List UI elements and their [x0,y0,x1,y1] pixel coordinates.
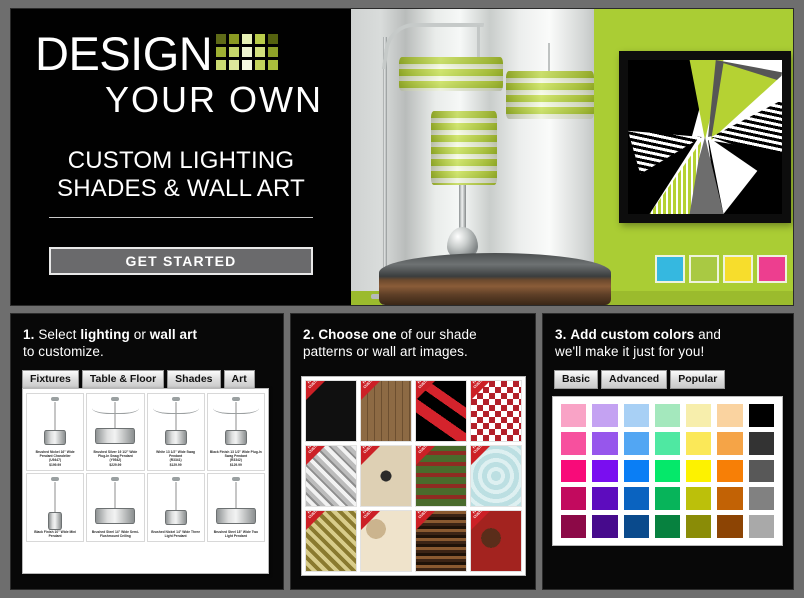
tab-fixtures[interactable]: Fixtures [22,370,79,389]
color-swatch-1-0[interactable] [561,432,586,455]
pattern-item-brown-grid-weave[interactable]: FREE CUSTOM [360,380,412,442]
hero-swatch-3[interactable] [757,255,787,283]
logo-swatch-2 [242,34,252,44]
patterns-panel: FREE CUSTOMFREE CUSTOMFREE CUSTOMFREE CU… [301,376,526,576]
color-swatch-0-3[interactable] [655,404,680,427]
fixture-caption: Black Finish 13 1/2" Wide Plug-In Swag P… [209,448,263,470]
fixture-thumbnail [88,396,142,448]
step-2-number: 2. [303,327,314,342]
fixture-thumbnail [28,396,82,448]
tab-table-floor[interactable]: Table & Floor [82,370,164,389]
fixture-name: Brushed Steel 18" Wide Two Light Pendant [214,530,258,538]
color-swatch-4-0[interactable] [561,515,586,538]
step-1-strong-lighting: lighting [80,327,130,342]
fixtures-grid[interactable]: Brushed Nickel 16" Wide Pendant Chandeli… [26,393,265,542]
fixtures-panel: Brushed Nickel 16" Wide Pendant Chandeli… [22,388,269,574]
color-swatch-1-5[interactable] [717,432,742,455]
logo-swatch-3 [255,34,265,44]
color-swatch-1-6[interactable] [749,432,774,455]
striped-shade-table [431,111,497,185]
step-1-number: 1. [23,327,34,342]
fixture-caption: White 13 1/2" Wide Swag Pendant(R3341)$1… [149,448,203,470]
fixture-item[interactable]: Brushed Steel 14" Wide Semi-Flushmount C… [86,473,144,542]
color-swatch-0-5[interactable] [717,404,742,427]
step-1-heading: 1. Select lighting or wall art to custom… [11,314,283,360]
fixture-item[interactable]: White 13 1/2" Wide Swag Pendant(R3341)$1… [147,393,205,471]
hero-swatch-0[interactable] [655,255,685,283]
logo-swatch-7 [242,47,252,57]
pattern-item-brown-horizontal-stripes[interactable]: FREE CUSTOM [415,510,467,572]
logo-swatch-11 [229,60,239,70]
pattern-item-retro-abstract-shapes[interactable]: FREE CUSTOM [305,380,357,442]
color-swatch-4-4[interactable] [686,515,711,538]
step-1-panel: 1. Select lighting or wall art to custom… [10,313,284,590]
color-swatch-2-5[interactable] [717,460,742,483]
fixture-caption: Black Finish 10" Wide Mini Pendant [28,528,82,541]
step-3-panel: 3. Add custom colors and we'll make it j… [542,313,794,590]
fixture-thumbnail [28,476,82,528]
brand-logo: DESIGN [35,31,278,77]
fixture-price: $199.99 [29,463,81,467]
color-swatch-3-1[interactable] [592,487,617,510]
color-swatch-3-0[interactable] [561,487,586,510]
color-swatch-2-0[interactable] [561,460,586,483]
step-3-strong: Add custom colors [570,327,694,342]
pattern-item-red-white-checkerboard[interactable]: FREE CUSTOM [470,380,522,442]
step-2-text: of our shade [397,327,477,342]
color-picker-panel [552,396,783,546]
color-swatch-grid[interactable] [561,404,774,538]
fixture-caption: Brushed Nickel 14" Wide Three Light Pend… [149,528,203,541]
fixture-item[interactable]: Brushed Nickel 16" Wide Pendant Chandeli… [26,393,84,471]
color-swatch-0-6[interactable] [749,404,774,427]
pattern-item-grey-marble-mosaic[interactable]: FREE CUSTOM [305,445,357,507]
step-2-line2: patterns or wall art images. [303,343,523,360]
hero-color-swatches[interactable] [655,255,787,283]
color-swatch-1-1[interactable] [592,432,617,455]
step-2-strong: Choose one [318,327,396,342]
hero-swatch-2[interactable] [723,255,753,283]
hero-banner: DESIGN YOUR OWN CUSTOM LIGHTING SHADES &… [10,8,794,306]
color-swatch-4-3[interactable] [655,515,680,538]
color-swatch-4-5[interactable] [717,515,742,538]
hero-photo [351,9,793,305]
color-swatch-3-4[interactable] [686,487,711,510]
color-swatch-4-1[interactable] [592,515,617,538]
color-swatch-0-2[interactable] [624,404,649,427]
logo-word-your-own: YOUR OWN [105,81,323,119]
color-swatch-2-4[interactable] [686,460,711,483]
patterns-grid[interactable]: FREE CUSTOMFREE CUSTOMFREE CUSTOMFREE CU… [305,380,522,572]
wall-art-canvas [628,60,782,214]
pattern-item-beige-damask-scroll[interactable]: FREE CUSTOM [360,510,412,572]
step-3-heading: 3. Add custom colors and we'll make it j… [543,314,793,360]
fixture-caption: Brushed Nickel 16" Wide Pendant Chandeli… [28,448,82,470]
color-swatch-0-0[interactable] [561,404,586,427]
color-swatch-3-6[interactable] [749,487,774,510]
fixture-thumbnail [88,476,142,528]
fixture-price: $129.99 [210,463,262,467]
tab-art[interactable]: Art [224,370,255,389]
logo-swatch-12 [242,60,252,70]
wall-art-frame [619,51,791,223]
fixture-item[interactable]: Brushed Nickel 14" Wide Three Light Pend… [147,473,205,542]
fixture-item[interactable]: Black Finish 10" Wide Mini Pendant [26,473,84,542]
color-swatch-4-6[interactable] [749,515,774,538]
fixture-thumbnail [209,396,263,448]
step-1-text-b: or [130,327,150,342]
tab-shades[interactable]: Shades [167,370,220,389]
fixture-name: Brushed Nickel 16" Wide Pendant Chandeli… [36,450,75,458]
fixture-name: Brushed Steel 14" Wide Semi-Flushmount C… [92,530,139,538]
logo-swatch-1 [229,34,239,44]
step-3-line2: we'll make it just for you! [555,343,781,360]
pattern-item-green-red-floral-stripe[interactable]: FREE CUSTOM [415,445,467,507]
fixture-name: Black Finish 10" Wide Mini Pendant [34,530,76,538]
pattern-item-snowflake-medallion[interactable]: FREE CUSTOM [360,445,412,507]
color-swatch-3-3[interactable] [655,487,680,510]
logo-swatch-14 [268,60,278,70]
fixture-price: $229.99 [89,463,141,467]
fixture-thumbnail [209,476,263,528]
logo-swatch-13 [255,60,265,70]
step-3-number: 3. [555,327,566,342]
pattern-item-aqua-circles-rings[interactable]: FREE CUSTOM [470,445,522,507]
logo-swatch-grid-icon [216,34,278,70]
step-1-line2: to customize. [23,343,271,360]
hero-tagline: CUSTOM LIGHTING SHADES & WALL ART [11,147,351,203]
logo-swatch-9 [268,47,278,57]
fixture-name: White 13 1/2" Wide Swag Pendant [156,450,195,458]
fixture-name: Black Finish 13 1/2" Wide Plug-In Swag P… [210,450,262,458]
fixture-name: Brushed Silver 19 1/2" Wide Plug-In Swag… [94,450,138,458]
color-tabbar[interactable]: BasicAdvancedPopular [543,360,793,389]
fixture-caption: Brushed Steel 18" Wide Two Light Pendant [209,528,263,541]
pendant-cord [548,43,550,73]
divider [49,217,313,218]
color-swatch-1-4[interactable] [686,432,711,455]
step-1-text-a: Select [38,327,80,342]
color-swatch-2-2[interactable] [624,460,649,483]
color-swatch-0-4[interactable] [686,404,711,427]
logo-swatch-5 [216,47,226,57]
tab-popular[interactable]: Popular [670,370,725,389]
steps-row: 1. Select lighting or wall art to custom… [10,313,794,590]
logo-swatch-6 [229,47,239,57]
striped-shade-top [399,57,503,91]
side-table [379,253,611,305]
fixture-item[interactable]: Black Finish 13 1/2" Wide Plug-In Swag P… [207,393,265,471]
striped-shade-pendant [506,71,594,119]
fixture-name: Brushed Nickel 14" Wide Three Light Pend… [151,530,200,538]
step-2-panel: 2. Choose one of our shade patterns or w… [290,313,536,590]
color-swatch-2-1[interactable] [592,460,617,483]
color-swatch-2-3[interactable] [655,460,680,483]
fixture-tabbar[interactable]: FixturesTable & FloorShadesArt [11,360,283,389]
color-swatch-0-1[interactable] [592,404,617,427]
fixture-price: $129.99 [150,463,202,467]
fixture-caption: Brushed Silver 19 1/2" Wide Plug-In Swag… [88,448,142,470]
step-3-text: and [694,327,721,342]
hero-text-panel: DESIGN YOUR OWN CUSTOM LIGHTING SHADES &… [11,9,351,305]
logo-swatch-4 [268,34,278,44]
hero-tagline-line1: CUSTOM LIGHTING [11,147,351,175]
fixture-thumbnail [149,396,203,448]
tab-basic[interactable]: Basic [554,370,598,389]
color-swatch-1-2[interactable] [624,432,649,455]
pattern-item-red-brown-paisley[interactable]: FREE CUSTOM [470,510,522,572]
pattern-item-red-black-graffiti[interactable]: FREE CUSTOM [415,380,467,442]
get-started-button[interactable]: GET STARTED [49,247,313,275]
logo-swatch-8 [255,47,265,57]
logo-swatch-0 [216,34,226,44]
step-1-strong-wallart: wall art [150,327,197,342]
fixture-caption: Brushed Steel 14" Wide Semi-Flushmount C… [88,528,142,541]
color-swatch-3-2[interactable] [624,487,649,510]
logo-swatch-10 [216,60,226,70]
pattern-item-olive-basketweave[interactable]: FREE CUSTOM [305,510,357,572]
fixture-thumbnail [149,476,203,528]
tab-advanced[interactable]: Advanced [601,370,667,389]
color-swatch-3-5[interactable] [717,487,742,510]
color-swatch-1-3[interactable] [655,432,680,455]
fixture-item[interactable]: Brushed Steel 18" Wide Two Light Pendant [207,473,265,542]
logo-word-design: DESIGN [35,31,212,77]
color-swatch-2-6[interactable] [749,460,774,483]
step-2-heading: 2. Choose one of our shade patterns or w… [291,314,535,360]
color-swatch-4-2[interactable] [624,515,649,538]
hero-tagline-line2: SHADES & WALL ART [11,175,351,203]
hero-swatch-1[interactable] [689,255,719,283]
fixture-item[interactable]: Brushed Silver 19 1/2" Wide Plug-In Swag… [86,393,144,471]
